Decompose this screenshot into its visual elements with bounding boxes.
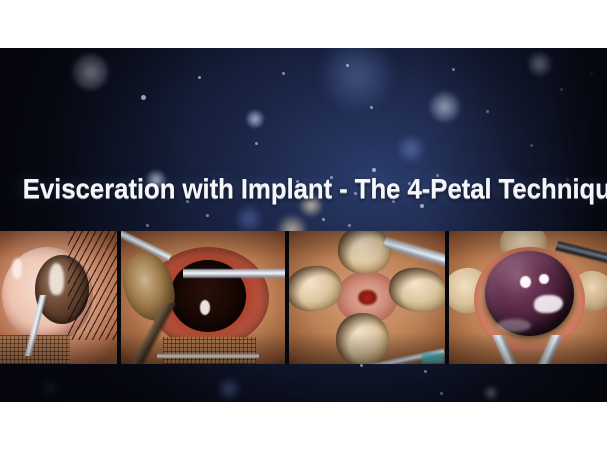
letterbox-bottom	[0, 402, 607, 453]
title-container: Evisceration with Implant - The 4-Petal …	[0, 173, 607, 205]
corneal-highlight	[49, 263, 64, 295]
forceps	[183, 266, 285, 282]
implant-highlight	[539, 274, 548, 285]
video-slide: Evisceration with Implant - The 4-Petal …	[0, 0, 607, 453]
filmstrip	[0, 231, 607, 364]
cavity-highlight	[200, 300, 210, 315]
scleral-highlight	[12, 258, 22, 279]
surgical-photo-implant	[449, 231, 607, 364]
filmstrip-panel-1[interactable]	[0, 231, 119, 364]
filmstrip-panel-2[interactable]	[119, 231, 288, 364]
surgical-photo-four-petals	[289, 231, 445, 364]
video-frame[interactable]: Evisceration with Implant - The 4-Petal …	[0, 48, 607, 402]
surgical-photo-evisceration	[121, 231, 286, 364]
filmstrip-panel-4[interactable]	[447, 231, 607, 364]
retractor-right	[531, 335, 566, 364]
filmstrip-panel-3[interactable]	[287, 231, 447, 364]
surgical-photo-globe	[0, 231, 117, 364]
blood-spot	[358, 290, 377, 306]
retractor-bar	[157, 351, 259, 362]
letterbox-top	[0, 0, 607, 48]
implant-highlight	[497, 319, 532, 332]
drape-corner	[422, 353, 444, 362]
slide-title: Evisceration with Implant - The 4-Petal …	[23, 173, 607, 205]
eyelashes	[68, 231, 119, 340]
retractor-left	[487, 335, 522, 364]
surgical-blade	[14, 295, 56, 356]
